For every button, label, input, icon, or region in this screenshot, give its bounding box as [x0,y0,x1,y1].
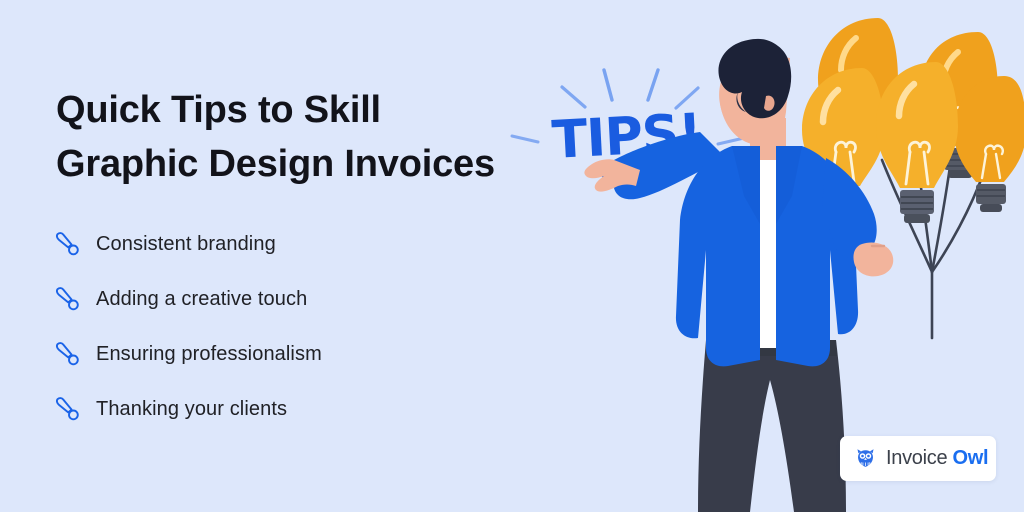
head [718,39,791,145]
list-item-label: Adding a creative touch [96,288,307,311]
list-item: Ensuring professionalism [52,338,472,370]
list-item: Thanking your clients [52,393,472,425]
list-item: Consistent branding [52,228,472,260]
paintbrush-icon [52,284,82,314]
bulb-base [900,190,934,223]
paintbrush-icon [52,394,82,424]
tips-list: Consistent branding Adding a creative to… [52,228,472,425]
paintbrush-icon [52,339,82,369]
bulb-base [976,184,1006,212]
headline-line-1: Quick Tips to Skill [56,89,381,131]
logo-wordmark: Invoice Owl [886,447,988,470]
list-item-label: Thanking your clients [96,398,287,421]
page-title: Quick Tips to Skill Graphic Design Invoi… [56,84,576,192]
invoiceowl-logo-badge[interactable]: Invoice Owl [840,436,996,481]
headline-line-2: Graphic Design Invoices [56,138,576,192]
list-item: Adding a creative touch [52,283,472,315]
owl-icon [854,447,877,470]
list-item-label: Consistent branding [96,233,276,256]
logo-text-invoice: Invoice [886,447,947,469]
logo-text-owl: Owl [947,447,988,469]
list-item-label: Ensuring professionalism [96,343,322,366]
paintbrush-icon [52,229,82,259]
holding-hand [853,242,893,276]
banner-canvas: Quick Tips to Skill Graphic Design Invoi… [0,0,1024,512]
